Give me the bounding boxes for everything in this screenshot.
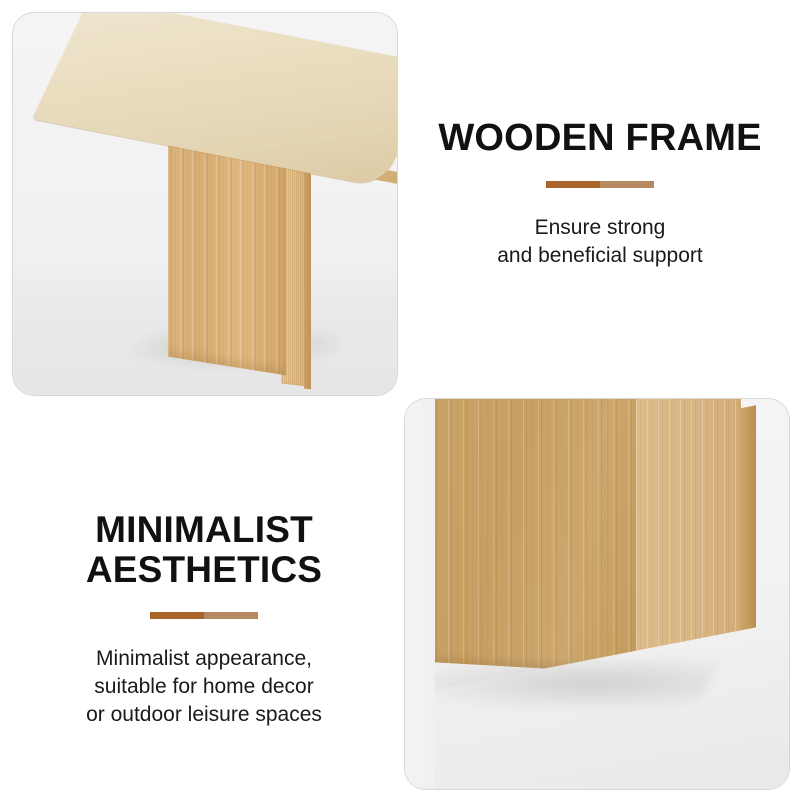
product-feature-collage: WOODEN FRAME Ensure strong and beneficia… [0,0,800,800]
divider-segment-dark [150,612,204,619]
divider-bar-minimalist-aesthetics [150,612,258,619]
product-photo-table-corner [12,12,398,396]
feature-text-wooden-frame: WOODEN FRAME Ensure strong and beneficia… [404,118,796,270]
divider-bar-wooden-frame [546,181,654,188]
product-photo-leg-closeup [404,398,790,790]
backdrop-left-gradient [405,399,435,789]
leg-closeup-illustration [405,399,789,789]
leg-panel-left [433,398,638,674]
divider-segment-light [204,612,258,619]
divider-segment-light [600,181,654,188]
headline-wooden-frame: WOODEN FRAME [404,118,796,159]
subline-wooden-frame: Ensure strong and beneficial support [404,214,796,270]
divider-segment-dark [546,181,600,188]
headline-minimalist-aesthetics: MINIMALIST AESTHETICS [8,510,400,590]
table-illustration [13,13,397,395]
feature-text-minimalist-aesthetics: MINIMALIST AESTHETICS Minimalist appeara… [8,510,400,729]
leg-floor-shadow [406,657,721,709]
subline-minimalist-aesthetics: Minimalist appearance, suitable for home… [8,645,400,729]
